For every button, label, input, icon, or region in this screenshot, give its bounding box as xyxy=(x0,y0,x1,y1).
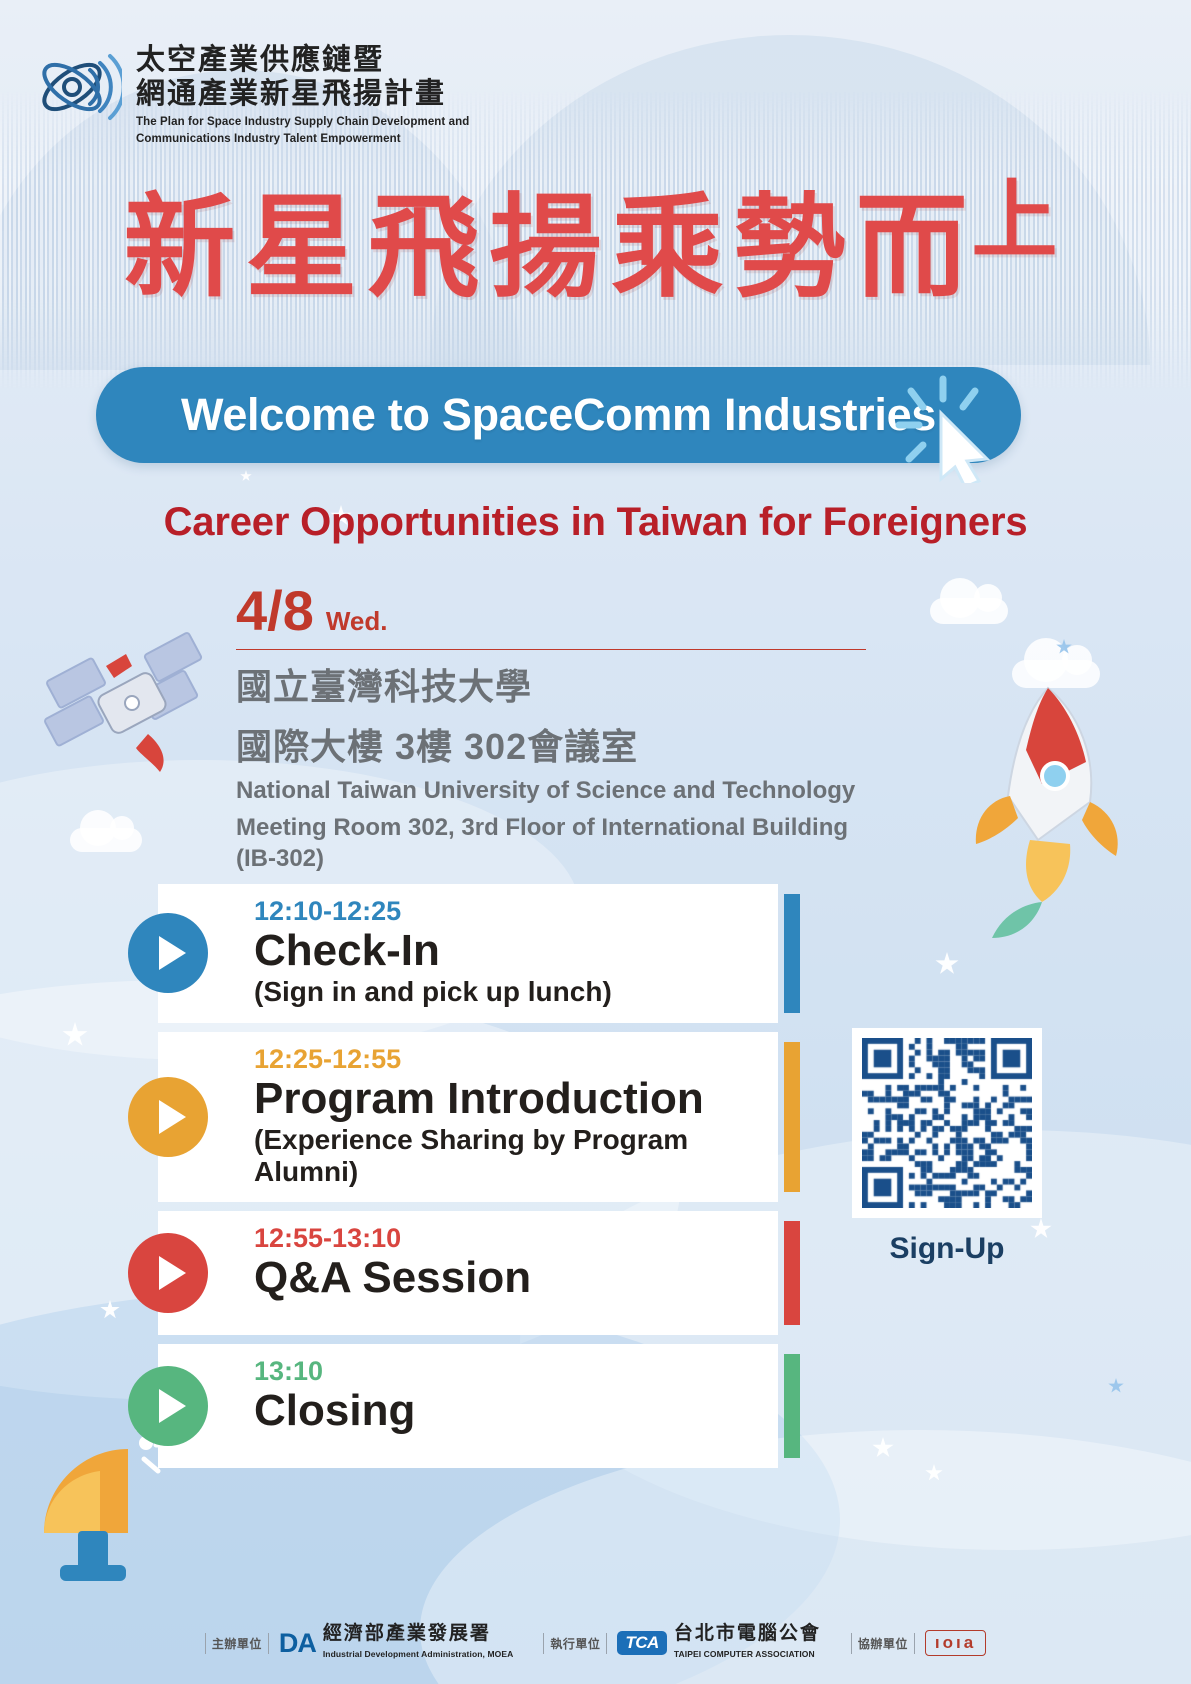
schedule-title: Closing xyxy=(254,1386,768,1435)
event-date-row: 4/8 Wed. xyxy=(236,583,866,639)
schedule-time: 12:25-12:55 xyxy=(254,1044,768,1075)
organizer-name-en: Industrial Development Administration, M… xyxy=(323,1649,514,1659)
schedule-time: 12:55-13:10 xyxy=(254,1223,768,1254)
headline-main: 新星飛揚乘勢而 xyxy=(124,185,978,310)
footer-executor: 執行單位 TCA 台北市電腦公會 TAIPEI COMPUTER ASSOCIA… xyxy=(543,1624,820,1662)
schedule-row: 12:10-12:25Check-In(Sign in and pick up … xyxy=(158,884,778,1023)
poster-subtitle: Career Opportunities in Taiwan for Forei… xyxy=(0,500,1191,545)
da-mark: DA xyxy=(279,1628,316,1659)
program-logo: 太空產業供應鏈暨 網通產業新星飛揚計畫 The Plan for Space I… xyxy=(36,44,469,147)
event-info: 4/8 Wed. 國立臺灣科技大學 國際大樓 3樓 302會議室 Nationa… xyxy=(236,583,866,874)
schedule-color-bar xyxy=(784,1221,800,1325)
executor-name-cn: 台北市電腦公會 xyxy=(674,1623,821,1644)
venue-cn-line2: 國際大樓 3樓 302會議室 xyxy=(236,724,866,770)
tca-mark: TCA xyxy=(617,1631,666,1655)
schedule-row: 13:10Closing xyxy=(158,1344,778,1468)
logo-title-cn-line1: 太空產業供應鏈暨 xyxy=(136,44,469,78)
cursor-sparkle-icon xyxy=(887,373,999,483)
organizer-tag: 主辦單位 xyxy=(205,1633,269,1654)
organizer-name-cn: 經濟部產業發展署 xyxy=(323,1623,491,1644)
qr-label: Sign-Up xyxy=(852,1232,1042,1266)
schedule-color-bar xyxy=(784,894,800,1013)
star-icon xyxy=(240,470,252,482)
poster-headline: 新星飛揚乘勢而上 xyxy=(0,178,1191,304)
venue-cn-line1: 國立臺灣科技大學 xyxy=(236,664,866,710)
qr-code-image xyxy=(862,1038,1032,1208)
logo-title-en-line1: The Plan for Space Industry Supply Chain… xyxy=(136,115,469,129)
schedule-list: 12:10-12:25Check-In(Sign in and pick up … xyxy=(158,884,778,1477)
schedule-color-bar xyxy=(784,1042,800,1193)
schedule-subtitle: (Sign in and pick up lunch) xyxy=(254,976,768,1008)
footer-partners: 主辦單位 DA 經濟部產業發展署 Industrial Development … xyxy=(0,1624,1191,1662)
coorganizer-mark: ıoıa xyxy=(925,1630,986,1656)
welcome-banner-label: Welcome to SpaceComm Industries xyxy=(181,389,936,441)
rocket-icon xyxy=(930,680,1140,970)
schedule-title: Q&A Session xyxy=(254,1253,768,1302)
play-icon xyxy=(128,1233,208,1313)
event-date: 4/8 xyxy=(236,583,314,639)
executor-logo: TCA 台北市電腦公會 TAIPEI COMPUTER ASSOCIATION xyxy=(617,1624,820,1662)
footer-coorganizer: 協辦單位 ıoıa xyxy=(851,1630,986,1656)
executor-tag: 執行單位 xyxy=(543,1633,607,1654)
poster: 太空產業供應鏈暨 網通產業新星飛揚計畫 The Plan for Space I… xyxy=(0,0,1191,1684)
schedule-row: 12:25-12:55Program Introduction(Experien… xyxy=(158,1032,778,1203)
coorganizer-tag: 協辦單位 xyxy=(851,1633,915,1654)
divider xyxy=(236,649,866,650)
qr-code[interactable] xyxy=(852,1028,1042,1218)
play-icon xyxy=(128,1077,208,1157)
schedule-time: 12:10-12:25 xyxy=(254,896,768,927)
play-icon xyxy=(128,913,208,993)
footer-organizer: 主辦單位 DA 經濟部產業發展署 Industrial Development … xyxy=(205,1624,514,1662)
event-weekday: Wed. xyxy=(326,606,388,637)
welcome-banner: Welcome to SpaceComm Industries xyxy=(96,367,1021,463)
venue-en-line2: Meeting Room 302, 3rd Floor of Internati… xyxy=(236,813,866,874)
schedule-color-bar xyxy=(784,1354,800,1458)
signup-qr-block: Sign-Up xyxy=(852,1028,1042,1266)
schedule-time: 13:10 xyxy=(254,1356,768,1387)
schedule-title: Check-In xyxy=(254,926,768,975)
organizer-logo: DA 經濟部產業發展署 Industrial Development Admin… xyxy=(279,1624,514,1662)
headline-accent: 上 xyxy=(972,178,1068,264)
schedule-row: 12:55-13:10Q&A Session xyxy=(158,1211,778,1335)
executor-name-en: TAIPEI COMPUTER ASSOCIATION xyxy=(674,1649,815,1659)
cloud-icon xyxy=(70,828,142,852)
schedule-subtitle: (Experience Sharing by Program Alumni) xyxy=(254,1124,768,1188)
schedule-title: Program Introduction xyxy=(254,1074,768,1123)
play-icon xyxy=(128,1366,208,1446)
venue-en-line1: National Taiwan University of Science an… xyxy=(236,776,866,807)
atom-signal-icon xyxy=(36,44,122,130)
satellite-icon xyxy=(40,630,230,800)
logo-title-en-line2: Communications Industry Talent Empowerme… xyxy=(136,132,469,146)
cloud-icon xyxy=(930,598,1008,624)
logo-title-cn-line2: 網通產業新星飛揚計畫 xyxy=(136,78,469,112)
